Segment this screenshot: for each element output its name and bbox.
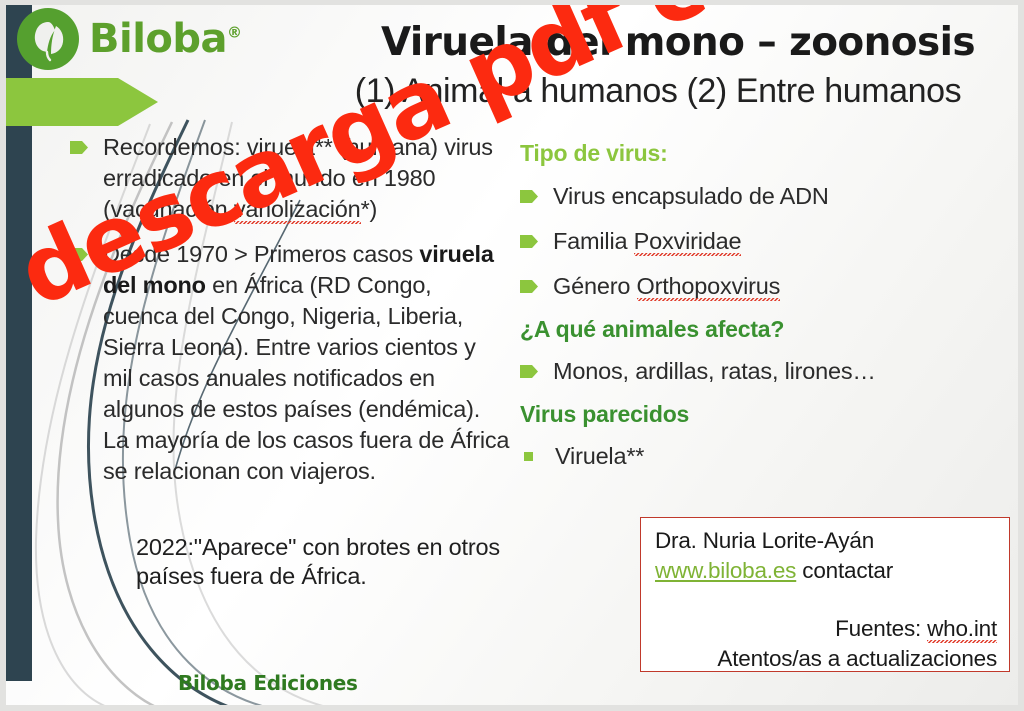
contact-sources-label: Fuentes: <box>835 616 927 641</box>
green-arrow-band <box>0 78 158 126</box>
contact-sources-value: who.int <box>927 616 997 641</box>
brand-logo-text: Biloba® <box>89 16 242 62</box>
bullet-text-pre: Género <box>553 273 637 299</box>
list-item: Viruela** <box>520 441 1010 472</box>
arrow-bullet-icon <box>520 280 538 293</box>
contact-author: Dra. Nuria Lorite-Ayán <box>655 526 997 556</box>
ginkgo-leaf-icon <box>17 8 79 70</box>
bullet-text: Monos, ardillas, ratas, lirones… <box>553 356 876 387</box>
contact-sources: Fuentes: who.int <box>655 614 997 644</box>
right-content-column: Tipo de virus: Virus encapsulado de ADN … <box>520 140 1010 486</box>
bullet-text-pre: Desde 1970 > Primeros casos <box>103 241 419 267</box>
bullet-text-post: en África (RD Congo, cuenca del Congo, N… <box>103 272 509 484</box>
contact-link-line: www.biloba.es contactar <box>655 556 997 586</box>
square-bullet-icon <box>524 452 533 461</box>
slide-canvas: Biloba® Viruela del mono – zoonosis (1) … <box>0 0 1024 711</box>
misspelled-word: variolización <box>234 196 361 222</box>
misspelled-word: Poxviridae <box>634 228 742 254</box>
list-item: Desde 1970 > Primeros casos viruela del … <box>70 239 510 487</box>
heading-virus-type: Tipo de virus: <box>520 140 1010 167</box>
list-item: Recordemos: viruela** (humana) virus err… <box>70 132 510 225</box>
list-item: Género Orthopoxvirus <box>520 271 1010 302</box>
contact-link-suffix: contactar <box>796 558 893 583</box>
contact-box: Dra. Nuria Lorite-Ayán www.biloba.es con… <box>640 517 1010 672</box>
list-item: Familia Poxviridae <box>520 226 1010 257</box>
bullet-text: Recordemos: viruela** (humana) virus err… <box>103 132 510 225</box>
arrow-bullet-icon <box>70 141 88 154</box>
arrow-bullet-icon <box>70 248 88 261</box>
footer-brand: Biloba Ediciones <box>178 671 358 695</box>
list-item: Virus encapsulado de ADN <box>520 181 1010 212</box>
misspelled-word: Orthopoxvirus <box>637 273 781 299</box>
bullet-text: Viruela** <box>555 441 644 472</box>
heading-animals-affected: ¿A qué animales afecta? <box>520 316 1010 343</box>
heading-similar-viruses: Virus parecidos <box>520 401 1010 428</box>
arrow-bullet-icon <box>520 235 538 248</box>
biloba-website-link[interactable]: www.biloba.es <box>655 558 796 583</box>
arrow-bullet-icon <box>520 190 538 203</box>
bullet-text: Desde 1970 > Primeros casos viruela del … <box>103 239 510 487</box>
left-content-column: Recordemos: viruela** (humana) virus err… <box>70 132 510 501</box>
bullet-text: Género Orthopoxvirus <box>553 271 780 302</box>
registered-mark-icon: ® <box>227 24 242 42</box>
contact-updates: Atentos/as a actualizaciones <box>655 644 997 674</box>
bullet-text: Virus encapsulado de ADN <box>553 181 829 212</box>
slide-subtitle: (1) Animal a humanos (2) Entre humanos <box>300 72 1016 111</box>
note-2022: 2022:"Aparece" con brotes en otros paíse… <box>136 533 556 591</box>
bullet-text-pre: Familia <box>553 228 634 254</box>
slide-title: Viruela del mono – zoonosis <box>340 20 1016 65</box>
bullet-text: Familia Poxviridae <box>553 226 741 257</box>
list-item: Monos, ardillas, ratas, lirones… <box>520 356 1010 387</box>
brand-logo[interactable]: Biloba® <box>17 8 242 70</box>
bullet-text-post: *) <box>361 196 378 222</box>
arrow-bullet-icon <box>520 365 538 378</box>
